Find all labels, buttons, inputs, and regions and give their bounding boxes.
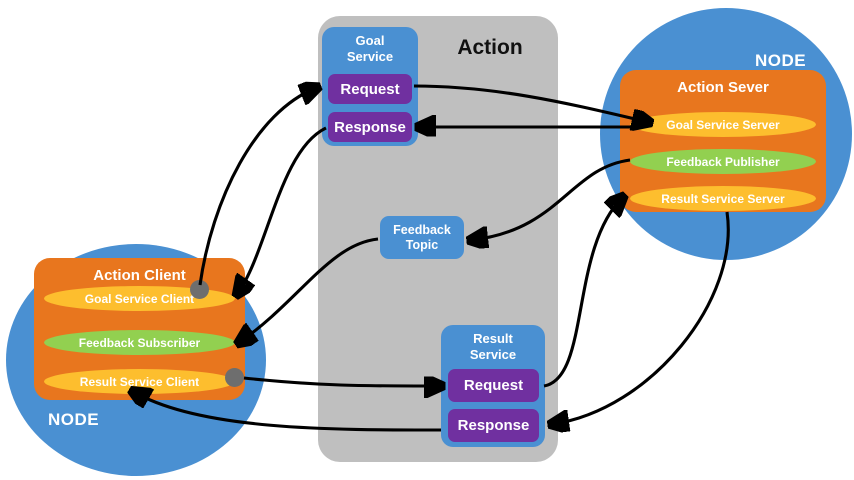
action-client-title: Action Client xyxy=(34,267,245,284)
arrow-goal-response-to-client xyxy=(238,128,326,293)
goal-service-title-line2: Service xyxy=(347,49,393,64)
node-label-server: NODE xyxy=(755,51,806,71)
feedback-topic-line2: Topic xyxy=(406,238,438,252)
feedback-subscriber-pill[interactable]: Feedback Subscriber xyxy=(44,330,235,355)
result-client-connector-dot xyxy=(225,368,244,387)
goal-service-title-line1: Goal xyxy=(356,33,385,48)
goal-client-connector-dot xyxy=(190,280,209,299)
goal-service-response-box[interactable]: Response xyxy=(328,112,412,142)
feedback-topic-box[interactable]: Feedback Topic xyxy=(380,216,464,259)
goal-service-title: Goal Service xyxy=(322,33,418,65)
action-server-title: Action Sever xyxy=(620,79,826,96)
arrow-client-to-goal-request xyxy=(200,88,316,285)
result-service-response-box[interactable]: Response xyxy=(448,409,539,442)
goal-service-request-box[interactable]: Request xyxy=(328,74,412,104)
feedback-topic-label: Feedback Topic xyxy=(393,223,451,253)
diagram-canvas: Action Action Client Goal Service Client… xyxy=(0,0,854,480)
action-panel-title: Action xyxy=(430,36,550,60)
goal-service-server-pill[interactable]: Goal Service Server xyxy=(630,112,816,137)
result-service-server-pill[interactable]: Result Service Server xyxy=(630,186,816,211)
feedback-topic-line1: Feedback xyxy=(393,223,451,237)
result-service-client-pill[interactable]: Result Service Client xyxy=(44,369,235,394)
feedback-publisher-pill[interactable]: Feedback Publisher xyxy=(630,149,816,174)
result-service-title: Result Service xyxy=(441,331,545,363)
result-service-title-line2: Service xyxy=(470,347,516,362)
node-label-client: NODE xyxy=(48,410,99,430)
result-service-request-box[interactable]: Request xyxy=(448,369,539,402)
result-service-title-line1: Result xyxy=(473,331,513,346)
